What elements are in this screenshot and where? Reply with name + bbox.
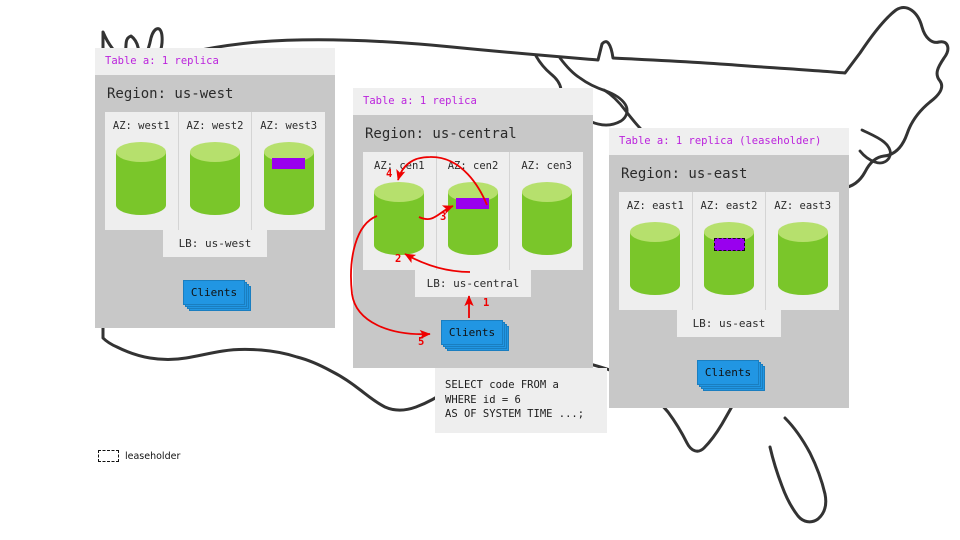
step-number-1: 1 [483,297,489,309]
replica-block-cen2 [456,198,489,209]
az-row-us-west: AZ: west1 AZ: west2 AZ [105,112,325,230]
az-cen3[interactable]: AZ: cen3 [510,152,583,270]
step-number-5: 5 [418,336,424,348]
clients-label-box[interactable]: Clients [183,280,245,305]
clients-label-box[interactable]: Clients [441,320,503,345]
az-label: AZ: cen1 [363,160,436,172]
region-title-us-central: Region: us-central [353,115,593,152]
legend-label: leaseholder [125,451,180,462]
az-cen2[interactable]: AZ: cen2 [437,152,511,270]
az-label: AZ: east1 [619,200,692,212]
step-number-2: 2 [395,253,401,265]
az-label: AZ: west2 [179,120,252,132]
load-balancer-us-west[interactable]: LB: us-west [163,230,267,257]
step-number-4: 4 [386,168,392,180]
clients-us-west[interactable]: Clients [183,280,245,305]
legend-leaseholder: leaseholder [98,450,180,462]
region-panel-us-central: Table a: 1 replica Region: us-central AZ… [353,88,593,368]
az-west1[interactable]: AZ: west1 [105,112,179,230]
cylinder-east2 [703,221,755,296]
dashed-rectangle-icon [98,450,119,462]
region-title-us-west: Region: us-west [95,75,335,112]
region-header-us-central: Table a: 1 replica [353,88,593,115]
az-label: AZ: west3 [252,120,325,132]
replica-block-east2-leaseholder [714,238,745,251]
cylinder-cen3 [521,181,573,256]
sql-query-box: SELECT code FROM a WHERE id = 6 AS OF SY… [435,368,607,433]
region-header-us-east: Table a: 1 replica (leaseholder) [609,128,849,155]
replica-block-west3 [272,158,305,169]
az-label: AZ: east2 [693,200,766,212]
step-number-3: 3 [440,211,446,223]
cylinder-cen2 [447,181,499,256]
az-row-us-east: AZ: east1 AZ: east2 [619,192,839,310]
region-panel-us-west: Table a: 1 replica Region: us-west AZ: w… [95,48,335,328]
az-east2[interactable]: AZ: east2 [693,192,767,310]
region-panel-us-east: Table a: 1 replica (leaseholder) Region:… [609,128,849,408]
cylinder-east1 [629,221,681,296]
az-west3[interactable]: AZ: west3 [252,112,325,230]
az-west2[interactable]: AZ: west2 [179,112,253,230]
clients-us-central[interactable]: Clients [441,320,503,345]
cylinder-east3 [777,221,829,296]
az-label: AZ: cen3 [510,160,583,172]
load-balancer-us-east[interactable]: LB: us-east [677,310,781,337]
cylinder-cen1 [373,181,425,256]
clients-label: Clients [191,286,237,299]
clients-us-east[interactable]: Clients [697,360,759,385]
cylinder-west1 [115,141,167,216]
clients-label: Clients [449,326,495,339]
az-east1[interactable]: AZ: east1 [619,192,693,310]
region-title-us-east: Region: us-east [609,155,849,192]
region-header-us-west: Table a: 1 replica [95,48,335,75]
az-east3[interactable]: AZ: east3 [766,192,839,310]
diagram-canvas: Table a: 1 replica Region: us-west AZ: w… [0,0,960,540]
az-label: AZ: cen2 [437,160,510,172]
load-balancer-us-central[interactable]: LB: us-central [415,270,531,297]
cylinder-west2 [189,141,241,216]
clients-label: Clients [705,366,751,379]
clients-label-box[interactable]: Clients [697,360,759,385]
cylinder-west3 [263,141,315,216]
az-label: AZ: east3 [766,200,839,212]
az-label: AZ: west1 [105,120,178,132]
